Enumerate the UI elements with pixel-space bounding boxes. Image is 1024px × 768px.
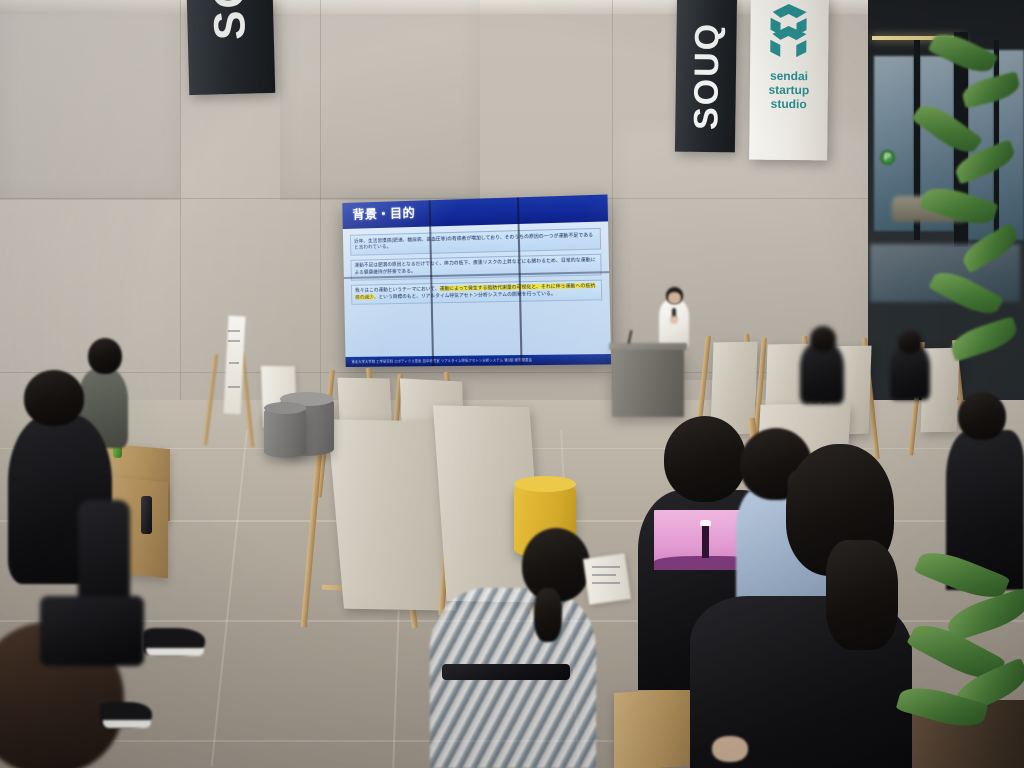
handout-text-mark — [592, 582, 620, 584]
banner-left-dark: SO — [187, 0, 276, 95]
audience-bottom-left-shoe-sole — [103, 720, 151, 728]
logo-caption-line1: sendai — [750, 70, 828, 84]
wall-panel-left — [0, 0, 180, 200]
print-lighthouse-tower — [702, 524, 709, 558]
audience-far-right-head — [958, 392, 1006, 440]
audience-left-shoe-sole — [146, 648, 204, 656]
sendai-startup-studio-hex-logo — [766, 2, 813, 64]
handout-text-mark — [592, 566, 620, 568]
slide-p1-run1: 近年、生活習慣病(肥満、糖尿病、高血圧等)の有病者が増加しており、そのうちの原因… — [354, 232, 593, 250]
audience-left-bench-back-head — [88, 338, 122, 374]
parking-sign-icon: P — [880, 150, 895, 165]
handout-text-mark — [592, 574, 616, 576]
poster-text-mark — [229, 362, 239, 364]
stool-grey-small-top — [264, 402, 306, 414]
banner-logo-white: sendai startup studio — [749, 0, 829, 160]
logo-caption-line3: studio — [750, 98, 828, 112]
wall-seam-v1 — [180, 0, 181, 430]
presenter-hand — [670, 316, 678, 324]
audience-back-right-table-head — [810, 326, 836, 352]
poster-text-mark — [228, 340, 240, 342]
slide-paragraph-1: 近年、生活習慣病(肥満、糖尿病、高血圧等)の有病者が増加しており、そのうちの原因… — [350, 228, 601, 256]
wooden-bench-center — [614, 687, 700, 768]
audience-left-bench-front-head — [24, 370, 84, 426]
video-wall-display[interactable]: 背景・目的 近年、生活習慣病(肥満、糖尿病、高血圧等)の有病者が増加しており、そ… — [342, 194, 611, 367]
lectern — [612, 349, 684, 417]
print-lighthouse-lamp — [700, 520, 711, 526]
stool-yellow-top — [514, 476, 576, 492]
slide-paragraph-3: 我々はこの運動というテーマにおいて、運動によって発生する脂肪代謝量の可視化と、そ… — [351, 279, 602, 305]
audience-back-far-right-head — [898, 330, 922, 354]
presenter-face — [668, 292, 681, 304]
slide-p3-run3: 、という目標のもと、リアルタイム呼気アセトン分析システムの開発を行っている。 — [374, 291, 556, 300]
slide-title: 背景・目的 — [352, 204, 415, 223]
poster-text-mark — [228, 386, 240, 388]
banner-left-text: SO — [204, 0, 256, 41]
audience-center-front-belt — [442, 664, 570, 680]
black-thermos — [141, 496, 152, 534]
audience-bottom-left-legs — [40, 596, 144, 666]
wall-panel-mid — [280, 0, 480, 200]
poster-text-mark — [228, 330, 240, 332]
wall-seam-v2 — [320, 0, 321, 430]
audience-lighthouse-tee-head — [664, 416, 746, 502]
logo-caption-line2: startup — [750, 84, 828, 98]
audience-center-front-ponytail — [534, 588, 562, 642]
audience-right-foreground-hair-fall — [826, 540, 898, 650]
slide-body: 近年、生活習慣病(肥満、糖尿病、高血圧等)の有病者が増加しており、そのうちの原因… — [343, 221, 611, 357]
slide-p3-run1: 我々はこの運動というテーマにおいて、 — [355, 286, 440, 293]
banner-center-text: SOUQ — [687, 22, 728, 131]
presentation-hall-photo: P SO SOUQ sendai startup studio 背景・目的 — [0, 0, 1024, 768]
printed-handout — [583, 553, 631, 604]
audience-right-foreground-hand — [712, 736, 748, 762]
banner-center-dark: SOUQ — [675, 0, 737, 152]
